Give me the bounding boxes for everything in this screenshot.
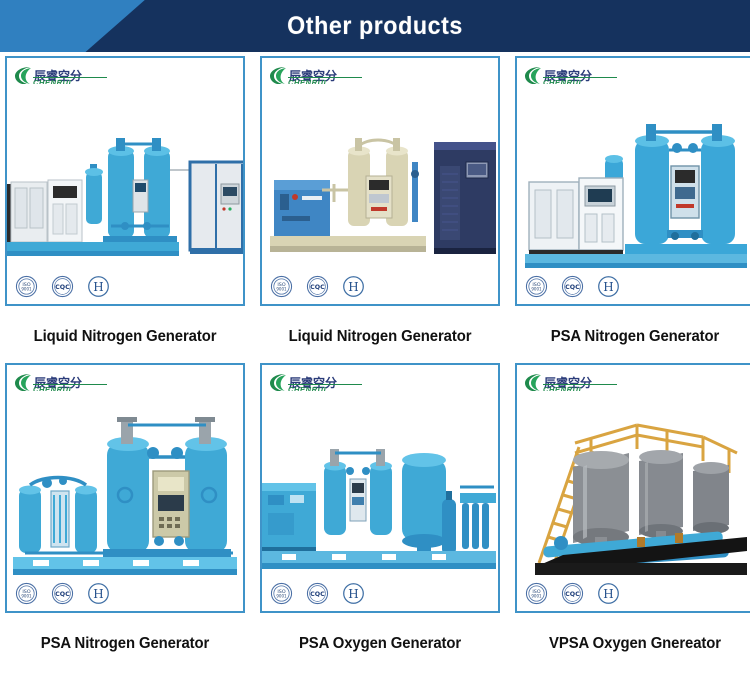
- cqc-badge: CQC: [561, 275, 584, 298]
- product-cell-3: 辰睿空分 CHENRUI: [515, 56, 750, 362]
- product-grid: 辰睿空分 CHENRUI: [0, 56, 750, 669]
- svg-text:H: H: [93, 587, 103, 601]
- page-root: Other products 辰睿空分 CHENRUI: [0, 0, 750, 694]
- h-mark-badge: H: [87, 582, 110, 605]
- h-mark-badge: H: [87, 275, 110, 298]
- cqc-badge: CQC: [306, 275, 329, 298]
- svg-text:CQC: CQC: [310, 284, 325, 291]
- product-caption: Liquid Nitrogen Generator: [265, 328, 495, 346]
- h-mark-badge: H: [342, 582, 365, 605]
- psa-nitrogen-generator-photo: [517, 84, 750, 276]
- product-card-psa-oxygen-generator[interactable]: 辰睿空分 CHENRUI: [260, 363, 500, 613]
- svg-text:9001: 9001: [21, 287, 32, 292]
- product-card-liquid-nitrogen-generator-2[interactable]: 辰睿空分 CHENRUI: [260, 56, 500, 306]
- svg-text:CQC: CQC: [55, 284, 70, 291]
- svg-text:CQC: CQC: [565, 284, 580, 291]
- certification-badges: ISO9001 CQC H: [15, 275, 110, 298]
- page-title: Other products: [26, 0, 724, 52]
- iso-9001-badge: ISO9001: [270, 582, 293, 605]
- h-mark-badge: H: [597, 275, 620, 298]
- product-card-vpsa-oxygen-generator[interactable]: 辰睿空分 CHENRUI: [515, 363, 750, 613]
- vpsa-oxygen-generator-photo: [517, 391, 750, 583]
- iso-9001-badge: ISO9001: [15, 582, 38, 605]
- svg-text:H: H: [348, 587, 358, 601]
- product-cell-1: 辰睿空分 CHENRUI: [5, 56, 245, 362]
- svg-text:H: H: [93, 280, 103, 294]
- iso-9001-badge: ISO9001: [525, 275, 548, 298]
- cqc-badge: CQC: [561, 582, 584, 605]
- product-caption: VPSA Oxygen Gnereator: [520, 635, 750, 653]
- svg-text:9001: 9001: [21, 594, 32, 599]
- product-caption: PSA Nitrogen Generator: [10, 635, 240, 653]
- section-header-banner: Other products: [0, 0, 750, 52]
- product-caption: Liquid Nitrogen Generator: [10, 328, 240, 346]
- certification-badges: ISO9001 CQC H: [15, 582, 110, 605]
- psa-nitrogen-generator-photo-2: [7, 391, 243, 583]
- svg-text:CQC: CQC: [565, 591, 580, 598]
- iso-9001-badge: ISO9001: [15, 275, 38, 298]
- svg-text:9001: 9001: [276, 287, 287, 292]
- h-mark-badge: H: [597, 582, 620, 605]
- svg-text:9001: 9001: [276, 594, 287, 599]
- cqc-badge: CQC: [306, 582, 329, 605]
- svg-text:H: H: [603, 587, 613, 601]
- svg-text:9001: 9001: [531, 594, 542, 599]
- cqc-badge: CQC: [51, 582, 74, 605]
- svg-text:H: H: [348, 280, 358, 294]
- svg-text:9001: 9001: [531, 287, 542, 292]
- psa-oxygen-generator-photo: [262, 391, 498, 583]
- cqc-badge: CQC: [51, 275, 74, 298]
- svg-text:CQC: CQC: [310, 591, 325, 598]
- product-cell-2: 辰睿空分 CHENRUI: [260, 56, 500, 362]
- product-card-liquid-nitrogen-generator[interactable]: 辰睿空分 CHENRUI: [5, 56, 245, 306]
- product-card-psa-nitrogen-generator-2[interactable]: 辰睿空分 CHENRUI: [5, 363, 245, 613]
- svg-text:H: H: [603, 280, 613, 294]
- iso-9001-badge: ISO9001: [270, 275, 293, 298]
- product-cell-6: 辰睿空分 CHENRUI: [515, 363, 750, 669]
- product-caption: PSA Oxygen Generator: [265, 635, 495, 653]
- certification-badges: ISO9001 CQC H: [525, 275, 620, 298]
- liquid-nitrogen-generator-photo-2: [262, 84, 498, 276]
- svg-text:CQC: CQC: [55, 591, 70, 598]
- product-cell-4: 辰睿空分 CHENRUI: [5, 363, 245, 669]
- product-cell-5: 辰睿空分 CHENRUI: [260, 363, 500, 669]
- liquid-nitrogen-generator-photo: [7, 84, 243, 276]
- certification-badges: ISO9001 CQC H: [270, 275, 365, 298]
- product-card-psa-nitrogen-generator[interactable]: 辰睿空分 CHENRUI: [515, 56, 750, 306]
- product-caption: PSA Nitrogen Generator: [520, 328, 750, 346]
- h-mark-badge: H: [342, 275, 365, 298]
- certification-badges: ISO9001 CQC H: [525, 582, 620, 605]
- iso-9001-badge: ISO9001: [525, 582, 548, 605]
- certification-badges: ISO9001 CQC H: [270, 582, 365, 605]
